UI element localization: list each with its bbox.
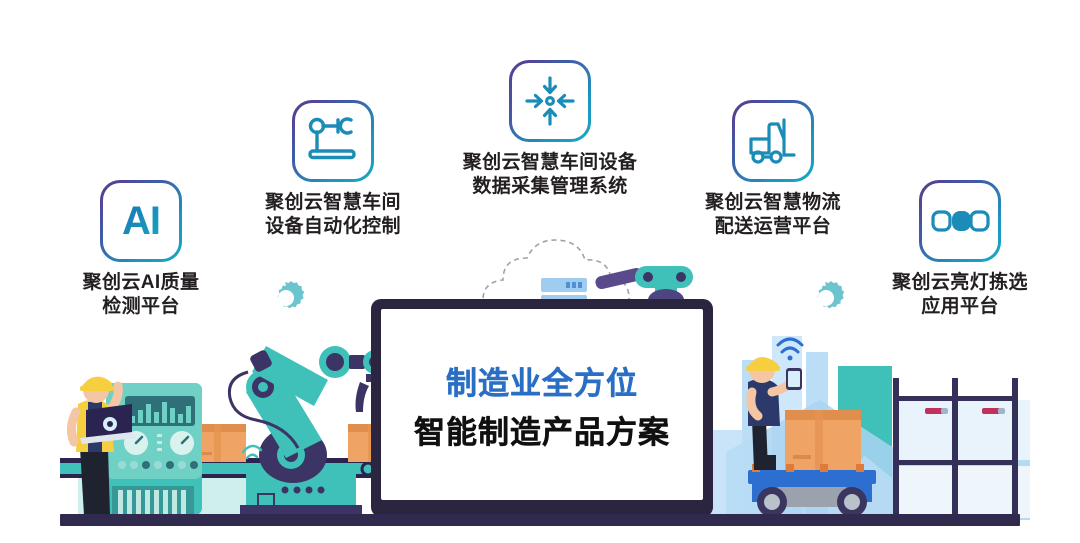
- control-cabinet: [106, 383, 202, 515]
- feature-icon-frame: [509, 60, 591, 142]
- warehouse-racking: [893, 378, 1030, 520]
- gear-icon-right: [806, 276, 846, 316]
- laptop: [80, 404, 136, 444]
- converge-arrows-icon: [512, 63, 588, 139]
- feature-label-workshop-automation: 聚创云智慧车间 设备自动化控制: [265, 191, 401, 239]
- gear-icon-left: [266, 276, 306, 316]
- feature-label-data-acquisition: 聚创云智慧车间设备 数据采集管理系统: [463, 151, 638, 199]
- feature-smart-logistics[interactable]: 聚创云智慧物流 配送运营平台: [672, 100, 874, 239]
- feature-workshop-automation[interactable]: 聚创云智慧车间 设备自动化控制: [233, 100, 433, 239]
- poster-title-line1: 制造业全方位: [446, 358, 638, 403]
- feature-label-ai-quality: 聚创云AI质量 检测平台: [83, 271, 200, 319]
- feature-label-smart-logistics: 聚创云智慧物流 配送运营平台: [705, 191, 841, 239]
- ground-bar: [60, 514, 1020, 526]
- feature-icon-frame: [732, 100, 814, 182]
- ai-badge-icon: AI: [103, 183, 179, 259]
- infographic-poster: 制造业全方位 智能制造产品方案 AI 聚创云AI质量 检测平台: [0, 0, 1080, 543]
- feature-label-pick-to-light: 聚创云亮灯拣选 应用平台: [892, 271, 1028, 319]
- monitor-screen: 制造业全方位 智能制造产品方案: [381, 309, 703, 500]
- feature-data-acquisition[interactable]: 聚创云智慧车间设备 数据采集管理系统: [432, 60, 668, 199]
- robot-arm-icon: [295, 103, 371, 179]
- feature-icon-frame: AI: [100, 180, 182, 262]
- forklift-icon: [735, 103, 811, 179]
- feature-pick-to-light[interactable]: 聚创云亮灯拣选 应用平台: [865, 180, 1055, 319]
- poster-title-line2: 智能制造产品方案: [414, 407, 670, 452]
- monitor-display: 制造业全方位 智能制造产品方案: [372, 300, 712, 516]
- pick-to-light-icon: [922, 183, 998, 259]
- feature-ai-quality[interactable]: AI 聚创云AI质量 检测平台: [46, 180, 236, 319]
- cargo-box: [785, 410, 861, 472]
- feature-icon-frame: [919, 180, 1001, 262]
- feature-icon-frame: [292, 100, 374, 182]
- ai-icon-text: AI: [122, 199, 160, 244]
